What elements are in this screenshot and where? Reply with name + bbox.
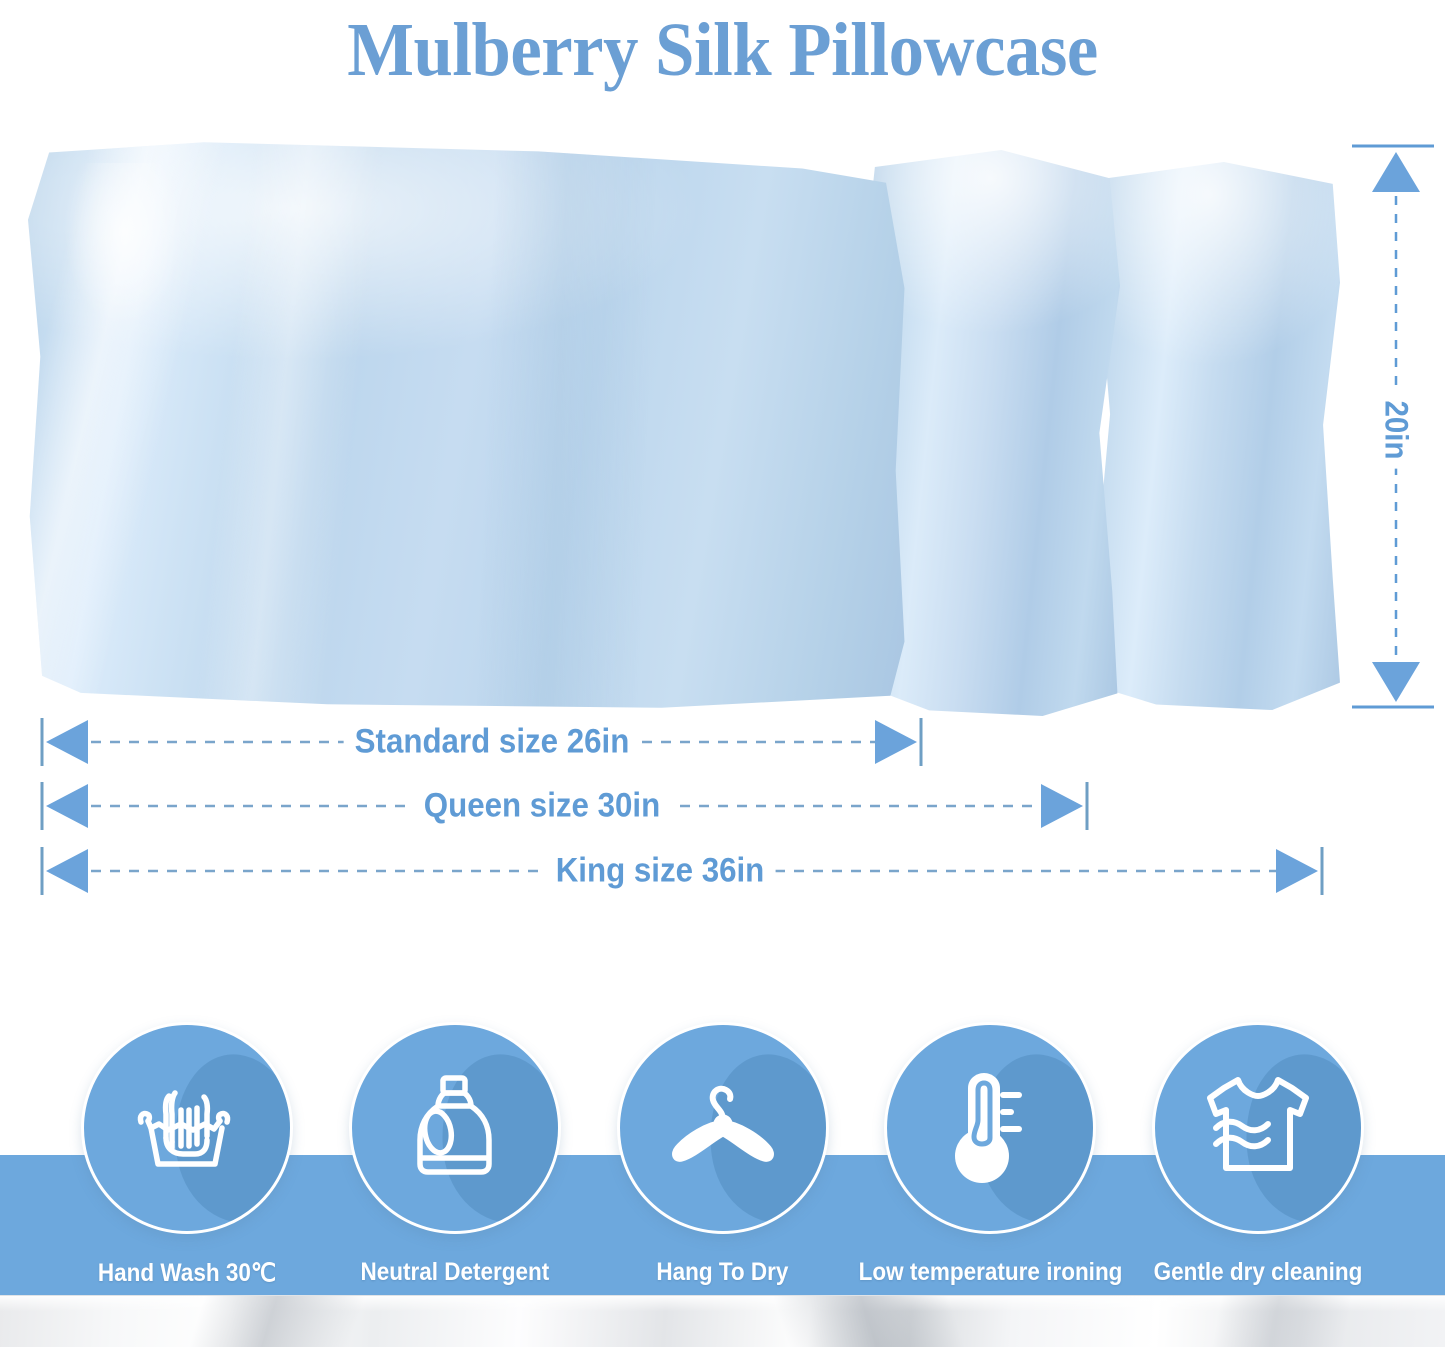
care-label-low-temp-ironing: Low temperature ironing [858, 1258, 1122, 1287]
hand-wash-icon-circle [81, 1022, 293, 1234]
care-label-hang-to-dry: Hang To Dry [656, 1258, 788, 1287]
dry-clean-shirt-icon-circle [1152, 1022, 1364, 1234]
care-item-gentle-dry-cleaning[interactable]: Gentle dry cleaning [1133, 1022, 1383, 1287]
title-bar: Mulberry Silk Pillowcase [0, 0, 1445, 100]
dry-clean-shirt-icon [1194, 1064, 1322, 1192]
pillow-stage [0, 110, 1445, 720]
standard-width-label: Standard size 26in [344, 723, 641, 762]
queen-width-label: Queen size 30in [413, 787, 672, 826]
care-item-low-temp-ironing[interactable]: Low temperature ironing [865, 1022, 1115, 1287]
height-dimension-label: 20in [1378, 391, 1415, 468]
clothes-hanger-icon [657, 1062, 789, 1194]
care-item-hang-to-dry[interactable]: Hang To Dry [598, 1022, 848, 1287]
care-item-neutral-detergent[interactable]: Neutral Detergent [330, 1022, 580, 1287]
care-label-neutral-detergent: Neutral Detergent [360, 1258, 549, 1287]
clothes-hanger-icon-circle [617, 1022, 829, 1234]
care-instructions-row: Hand Wash 30℃ Neutral Detergent [0, 1022, 1445, 1297]
page-title: Mulberry Silk Pillowcase [347, 10, 1098, 90]
hand-wash-icon [125, 1066, 249, 1190]
king-width-label: King size 36in [545, 852, 776, 891]
back-pillow [1098, 162, 1340, 710]
care-label-gentle-dry-cleaning: Gentle dry cleaning [1154, 1258, 1363, 1287]
care-label-hand-wash: Hand Wash 30℃ [98, 1258, 276, 1288]
front-pillow [28, 140, 908, 710]
bottom-satin-fabric [0, 1295, 1445, 1347]
detergent-bottle-icon [393, 1066, 517, 1190]
detergent-bottle-icon-circle [349, 1022, 561, 1234]
thermometer-icon-circle [884, 1022, 1096, 1234]
care-item-hand-wash[interactable]: Hand Wash 30℃ [62, 1022, 312, 1288]
thermometer-icon [926, 1064, 1054, 1192]
